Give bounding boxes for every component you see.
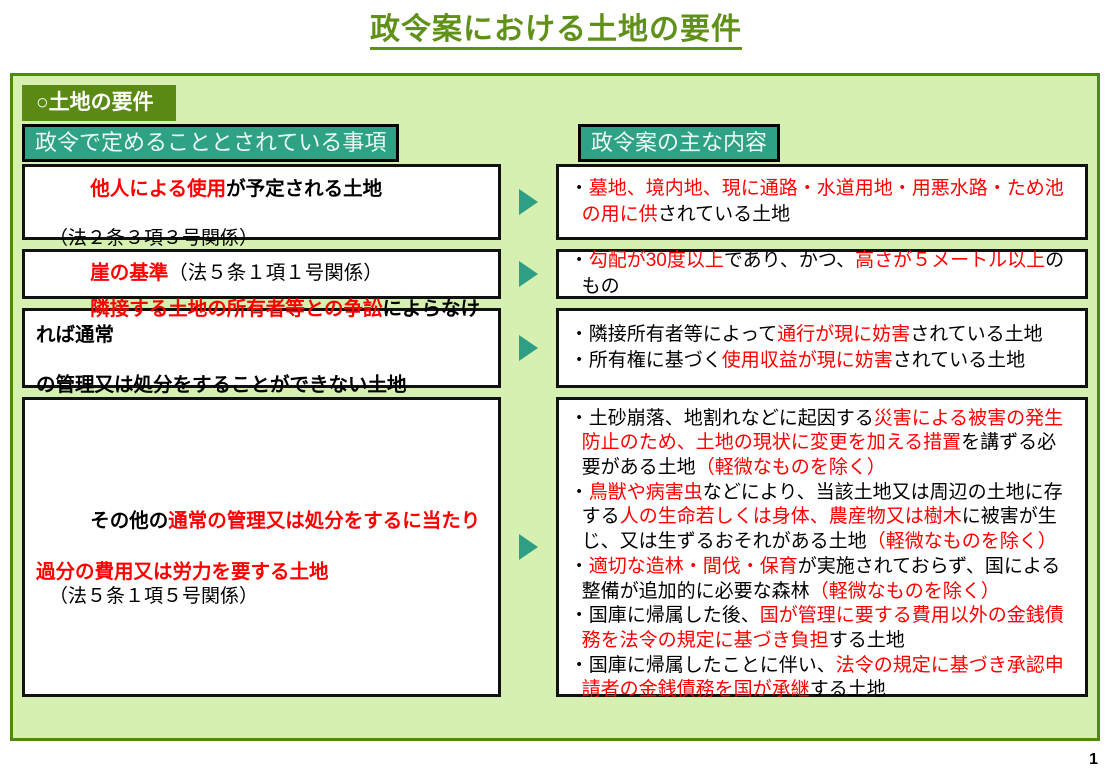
row4-left-line1: その他の通常の管理又は処分をするに当たり <box>36 484 488 560</box>
row3-bullet-1-black-b: されている土地 <box>910 324 1042 345</box>
right-triangle-arrow-icon <box>519 335 538 361</box>
row3-bullet-2: ・所有権に基づく使用収益が現に妨害されている土地 <box>570 348 1075 373</box>
row4-bullet-3-mark: ・ <box>570 556 589 577</box>
row2-bullet-1-black-a: であり、かつ、 <box>724 250 855 271</box>
row3-bullet-1-red: 通行が現に妨害 <box>777 324 910 345</box>
row1-right-cell: ・墓地、境内地、現に通路・水道用地・用悪水路・ため池の用に供されている土地 <box>556 164 1088 240</box>
row3-bullet-1-mark: ・ <box>570 324 589 345</box>
row3-bullet-1-black-a: 隣接所有者等によって <box>589 324 777 345</box>
row4-right-cell: ・土砂崩落、地割れなどに起因する災害による被害の発生防止のため、土地の現状に変更… <box>556 397 1088 697</box>
row2-bullet-1: ・勾配が30度以上であり、かつ、高さが５メートル以上のもの <box>570 248 1075 299</box>
page-title-text: 政令案における土地の要件 <box>370 13 742 50</box>
row2-bullet-1-red-b: 高さが５メートル以上 <box>855 250 1045 271</box>
row4-bullet-1-red-b: ため、土地の現状に変更を加える措置 <box>639 432 961 453</box>
row2-bullet-1-red-a: 勾配が30度以上 <box>589 250 724 271</box>
row2-bullet-1-mark: ・ <box>570 250 589 271</box>
row4-bullet-5-black-b: する土地 <box>810 679 886 700</box>
row3-bullet-2-black-a: 所有権に基づく <box>589 350 722 371</box>
requirement-row: 他人による使用が予定される土地 （法２条３項３号関係） ・墓地、境内地、現に通路… <box>22 164 1088 240</box>
row1-bullet-1-red: 墓地、境内地、現に通路・水道用地・用悪水路・ため池の用に供 <box>582 178 1064 224</box>
requirements-grid: 政令で定めることとされている事項 政令案の主な内容 他人による使用が予定される土… <box>22 129 1088 697</box>
row4-bullet-4-mark: ・ <box>570 605 589 626</box>
row1-left-line1: 他人による使用が予定される土地 <box>36 151 488 227</box>
column-header-right: 政令案の主な内容 <box>578 124 780 162</box>
row4-bullet-2-mark: ・ <box>570 482 589 503</box>
row4-left-line2: 過分の費用又は労力を要する土地 <box>36 560 488 585</box>
row4-bullet-1-black-a: 土砂崩落、地割れなどに起因する <box>589 408 874 429</box>
row4-left-line1-black: その他の <box>90 510 168 532</box>
row4-bullet-5-black-a: 国庫に帰属したことに伴い、 <box>589 655 836 676</box>
row4-bullet-2: ・鳥獣や病害虫などにより、当該土地又は周辺の土地に存する人の生命若しくは身体、農… <box>570 481 1075 555</box>
row4-left-cell: その他の通常の管理又は処分をするに当たり 過分の費用又は労力を要する土地 （法５… <box>22 397 501 697</box>
row4-bullet-5: ・国庫に帰属したことに伴い、法令の規定に基づき承認申請者の金銭債務を国が承継する… <box>570 654 1075 703</box>
row4-bullet-2-red-a: 鳥獣や病害虫 <box>589 482 703 503</box>
row3-bullet-1: ・隣接所有者等によって通行が現に妨害されている土地 <box>570 322 1075 347</box>
row4-bullet-5-mark: ・ <box>570 655 589 676</box>
row1-left-line1-black: が予定される土地 <box>226 178 382 200</box>
row3-bullet-2-black-b: されている土地 <box>893 350 1025 371</box>
row3-left-line1: 隣接する土地の所有者等との争訟によらなければ通常 <box>36 272 488 373</box>
row4-bullet-2-red-c: （軽微なものを除く） <box>867 531 1057 552</box>
section-banner: ○土地の要件 <box>22 85 176 121</box>
right-triangle-arrow-icon <box>519 534 538 560</box>
row1-arrow-col <box>501 164 556 240</box>
right-triangle-arrow-icon <box>519 189 538 215</box>
row1-bullet-1: ・墓地、境内地、現に通路・水道用地・用悪水路・ため池の用に供されている土地 <box>570 176 1075 227</box>
right-header-wrap: 政令案の主な内容 <box>578 129 1086 157</box>
content-panel: ○土地の要件 政令で定めることとされている事項 政令案の主な内容 他人による使用… <box>10 73 1100 741</box>
row4-bullet-4-black-b: する土地 <box>829 630 905 651</box>
page-number: 1 <box>1089 751 1098 769</box>
row1-bullet-1-mark: ・ <box>570 178 589 199</box>
row3-left-cell: 隣接する土地の所有者等との争訟によらなければ通常 の管理又は処分をすることができ… <box>22 308 501 388</box>
row4-bullet-2-red-b: 人の生命若しくは身体、農産物又は樹木 <box>620 506 962 527</box>
row3-right-cell: ・隣接所有者等によって通行が現に妨害されている土地 ・所有権に基づく使用収益が現… <box>556 308 1088 388</box>
row1-left-line1-red: 他人による使用 <box>90 178 226 200</box>
row4-left-line1-red: 通常の管理又は処分をするに当たり <box>168 510 480 532</box>
row3-left-line2: の管理又は処分をすることができない土地 <box>36 373 488 398</box>
row4-bullet-3-red-b: （軽微なものを除く） <box>810 581 1000 602</box>
row4-bullet-1-mark: ・ <box>570 408 589 429</box>
row4-arrow-col <box>501 397 556 697</box>
row4-bullet-4-black-a: 国庫に帰属した後、 <box>589 605 760 626</box>
right-triangle-arrow-icon <box>519 261 538 287</box>
row2-arrow-col <box>501 249 556 299</box>
row2-right-cell: ・勾配が30度以上であり、かつ、高さが５メートル以上のもの <box>556 249 1088 299</box>
row4-bullet-1: ・土砂崩落、地割れなどに起因する災害による被害の発生防止のため、土地の現状に変更… <box>570 407 1075 481</box>
row4-bullet-3-red-a: 適切な造林・間伐・保育 <box>589 556 798 577</box>
row3-bullet-2-mark: ・ <box>570 350 589 371</box>
row1-left-cell: 他人による使用が予定される土地 （法２条３項３号関係） <box>22 164 501 240</box>
page-title: 政令案における土地の要件 <box>0 0 1112 50</box>
row3-arrow-col <box>501 308 556 388</box>
requirement-row: その他の通常の管理又は処分をするに当たり 過分の費用又は労力を要する土地 （法５… <box>22 397 1088 697</box>
requirement-row: 隣接する土地の所有者等との争訟によらなければ通常 の管理又は処分をすることができ… <box>22 308 1088 388</box>
row4-bullet-4: ・国庫に帰属した後、国が管理に要する費用以外の金銭債務を法令の規定に基づき負担す… <box>570 604 1075 653</box>
row4-bullet-3: ・適切な造林・間伐・保育が実施されておらず、国による整備が追加的に必要な森林（軽… <box>570 555 1075 604</box>
row4-bullet-1-red-c: （軽微なものを除く） <box>696 457 886 478</box>
row3-bullet-2-red: 使用収益が現に妨害 <box>722 350 893 371</box>
row3-left-line1-red: 隣接する土地の所有者等との争訟 <box>90 298 382 320</box>
row1-bullet-1-black: されている土地 <box>658 204 790 225</box>
row4-left-line3: （法５条１項５号関係） <box>36 585 488 610</box>
